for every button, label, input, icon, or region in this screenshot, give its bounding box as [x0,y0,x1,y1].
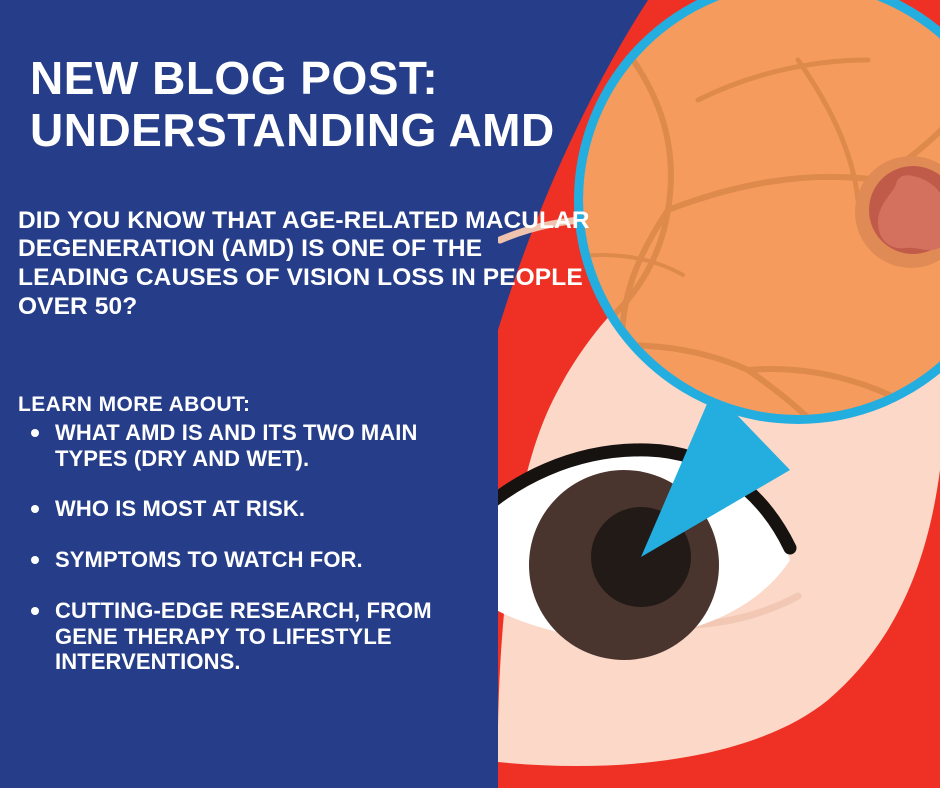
intro-question: DID YOU KNOW THAT AGE-RELATED MACULAR DE… [18,207,598,323]
list-item: SYMPTOMS TO WATCH FOR. [18,547,488,573]
text-column: NEW BLOG POST: UNDERSTANDING AMD DID YOU… [0,0,640,788]
learn-more-heading: LEARN MORE ABOUT: [18,393,250,417]
list-item-label: WHAT AMD IS AND ITS TWO MAIN TYPES (DRY … [55,420,418,471]
amd-blog-post-poster: NEW BLOG POST: UNDERSTANDING AMD DID YOU… [0,0,940,788]
list-item: CUTTING-EDGE RESEARCH, FROM GENE THERAPY… [18,598,488,675]
page-title: NEW BLOG POST: UNDERSTANDING AMD [30,53,690,157]
list-item-label: CUTTING-EDGE RESEARCH, FROM GENE THERAPY… [55,598,432,674]
list-item-label: SYMPTOMS TO WATCH FOR. [55,547,363,572]
bullet-dot-icon [31,556,39,564]
list-item: WHO IS MOST AT RISK. [18,496,488,522]
bullet-dot-icon [31,505,39,513]
list-item-label: WHO IS MOST AT RISK. [55,496,305,521]
bullet-dot-icon [31,429,39,437]
list-item: WHAT AMD IS AND ITS TWO MAIN TYPES (DRY … [18,420,488,471]
bullet-dot-icon [31,607,39,615]
learn-more-list: WHAT AMD IS AND ITS TWO MAIN TYPES (DRY … [18,420,488,700]
